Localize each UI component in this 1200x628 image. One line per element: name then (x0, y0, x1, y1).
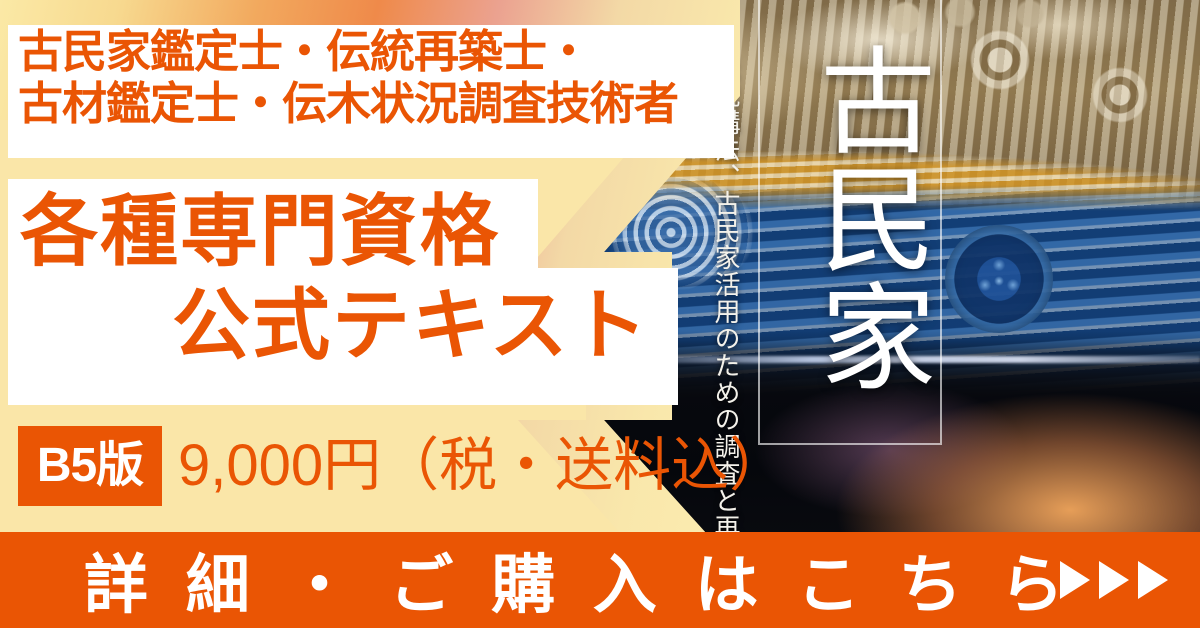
cta-label[interactable]: 詳 細 ・ ご 購 入 は こ ち ら (0, 532, 1140, 628)
triangle-right-icon (1099, 561, 1129, 599)
headline-text: 古民家鑑定士・伝統再築士・ 古材鑑定士・伝木状況調査技術者 (18, 26, 730, 130)
blue-crest-medallion (945, 225, 1053, 333)
format-badge: B5版 (18, 426, 162, 506)
price-text: 9,000円（税・送料込） (178, 428, 787, 504)
promo-banner: 古民家 伝統構法、古民家活用のための調査と再生の 古民家鑑定士・伝統再築士・ 古… (0, 0, 1200, 628)
book-cover-title: 古民家 (762, 8, 934, 428)
main-heading-line-1: 各種専門資格 (20, 188, 500, 274)
triangle-right-icon (1060, 561, 1090, 599)
cta-arrow-group[interactable] (1060, 532, 1168, 628)
triangle-right-icon (1138, 561, 1168, 599)
headline-line-1: 古民家鑑定士・伝統再築士・ (18, 26, 730, 78)
main-heading-line-2: 公式テキスト (172, 282, 650, 368)
headline-line-2: 古材鑑定士・伝木状況調査技術者 (18, 78, 730, 130)
